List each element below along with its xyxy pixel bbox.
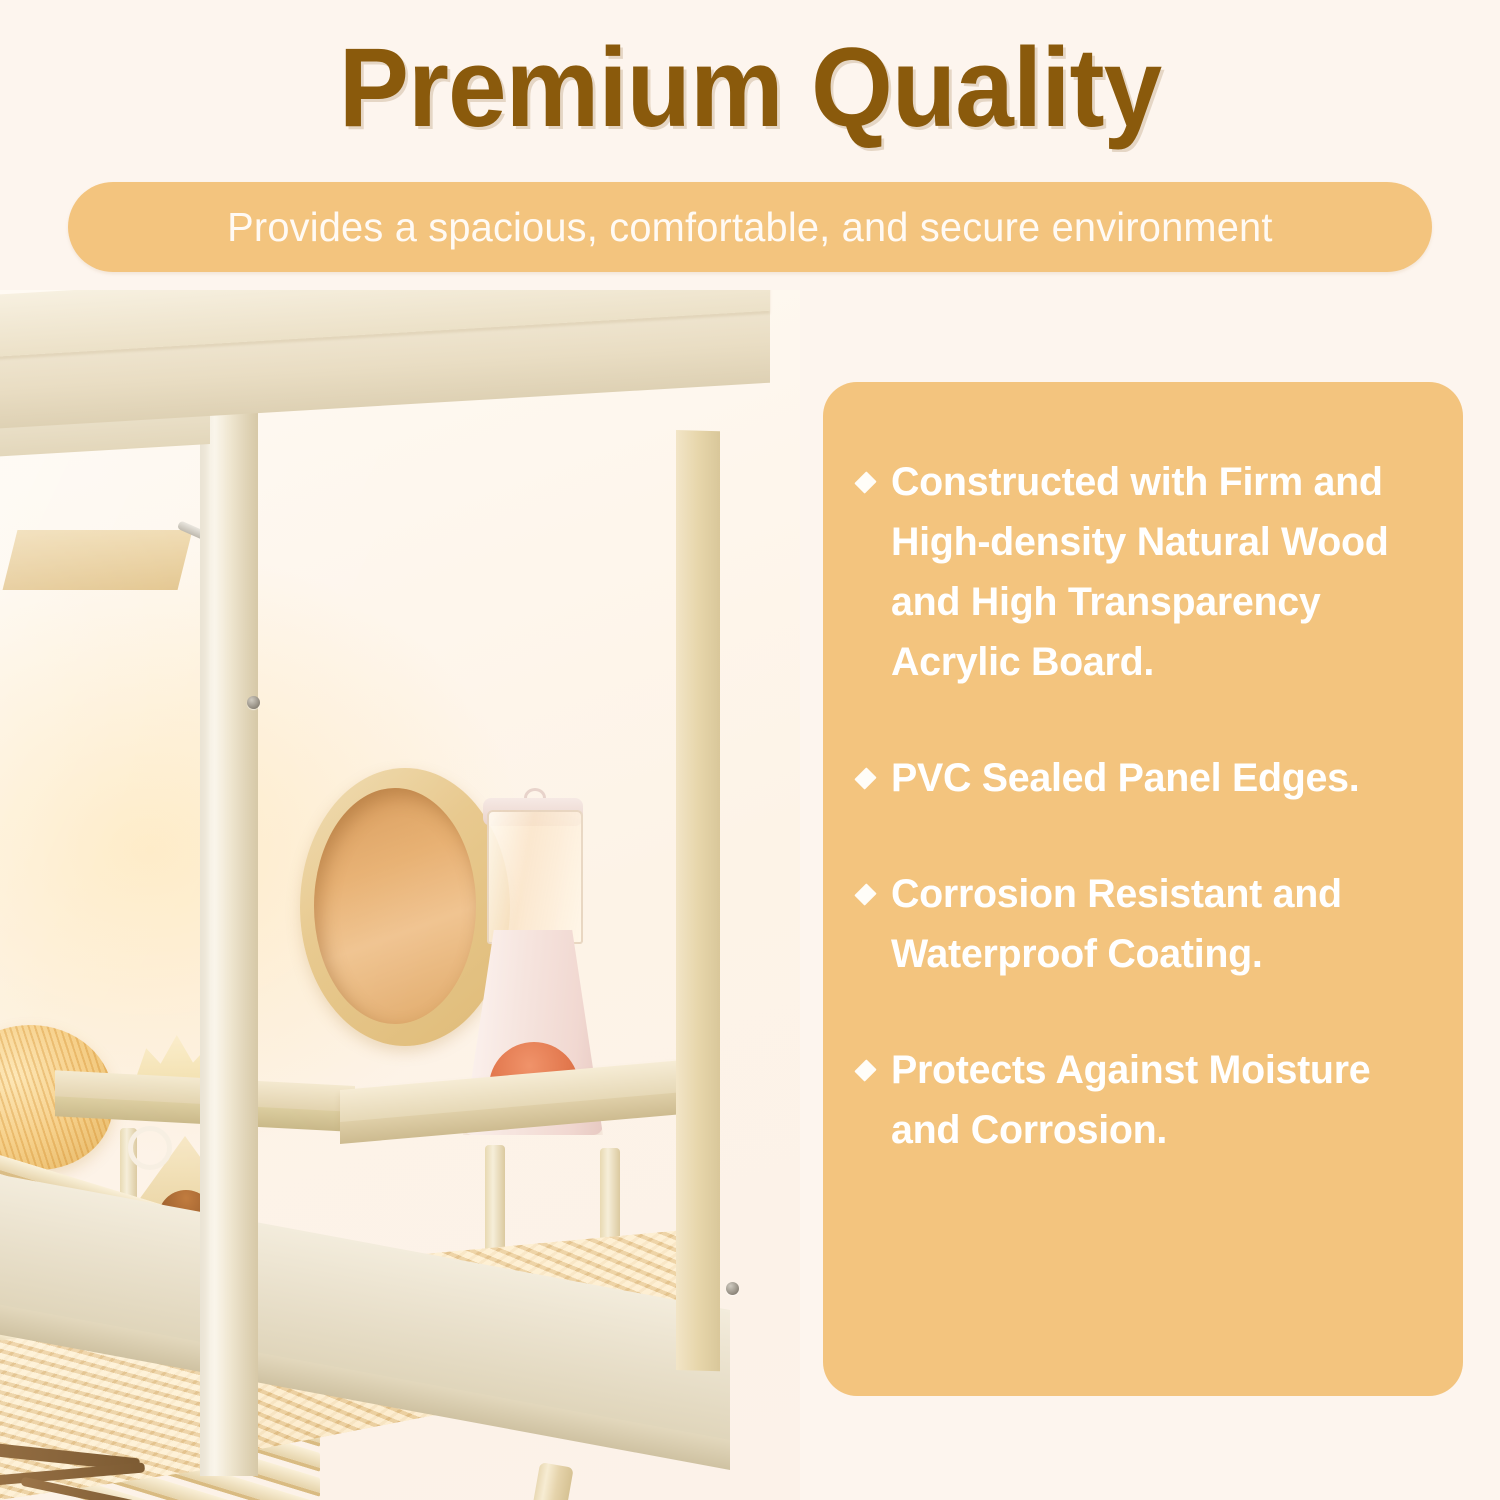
exercise-wheel bbox=[300, 768, 510, 1046]
screw-icon bbox=[247, 696, 260, 709]
feature-text: PVC Sealed Panel Edges. bbox=[891, 748, 1359, 808]
feature-text: Corrosion Resistant and Waterproof Coati… bbox=[891, 864, 1427, 984]
wheel-inner-track bbox=[314, 788, 476, 1024]
feature-text: Constructed with Firm and High-density N… bbox=[891, 452, 1427, 692]
feature-item: PVC Sealed Panel Edges. bbox=[857, 748, 1435, 808]
platform-ring bbox=[128, 1126, 172, 1170]
feature-text: Protects Against Moisture and Corrosion. bbox=[891, 1040, 1427, 1160]
subtitle-banner: Provides a spacious, comfortable, and se… bbox=[68, 182, 1432, 272]
feature-item: Corrosion Resistant and Waterproof Coati… bbox=[857, 864, 1435, 984]
water-bottle-reservoir bbox=[487, 810, 583, 944]
feature-list-panel: Constructed with Firm and High-density N… bbox=[823, 382, 1463, 1396]
diamond-bullet-icon bbox=[854, 883, 876, 905]
wheel-base bbox=[3, 530, 193, 590]
diamond-bullet-icon bbox=[854, 767, 876, 789]
page-title: Premium Quality bbox=[45, 28, 1455, 148]
feature-item: Constructed with Firm and High-density N… bbox=[857, 452, 1435, 692]
cage-post-right bbox=[676, 430, 720, 1371]
subtitle-text: Provides a spacious, comfortable, and se… bbox=[227, 204, 1272, 251]
diamond-bullet-icon bbox=[854, 471, 876, 493]
product-photo bbox=[0, 290, 800, 1500]
screw-icon bbox=[726, 1282, 739, 1295]
feature-item: Protects Against Moisture and Corrosion. bbox=[857, 1040, 1435, 1160]
diamond-bullet-icon bbox=[854, 1059, 876, 1081]
cage-post-left-shading bbox=[200, 346, 210, 1476]
